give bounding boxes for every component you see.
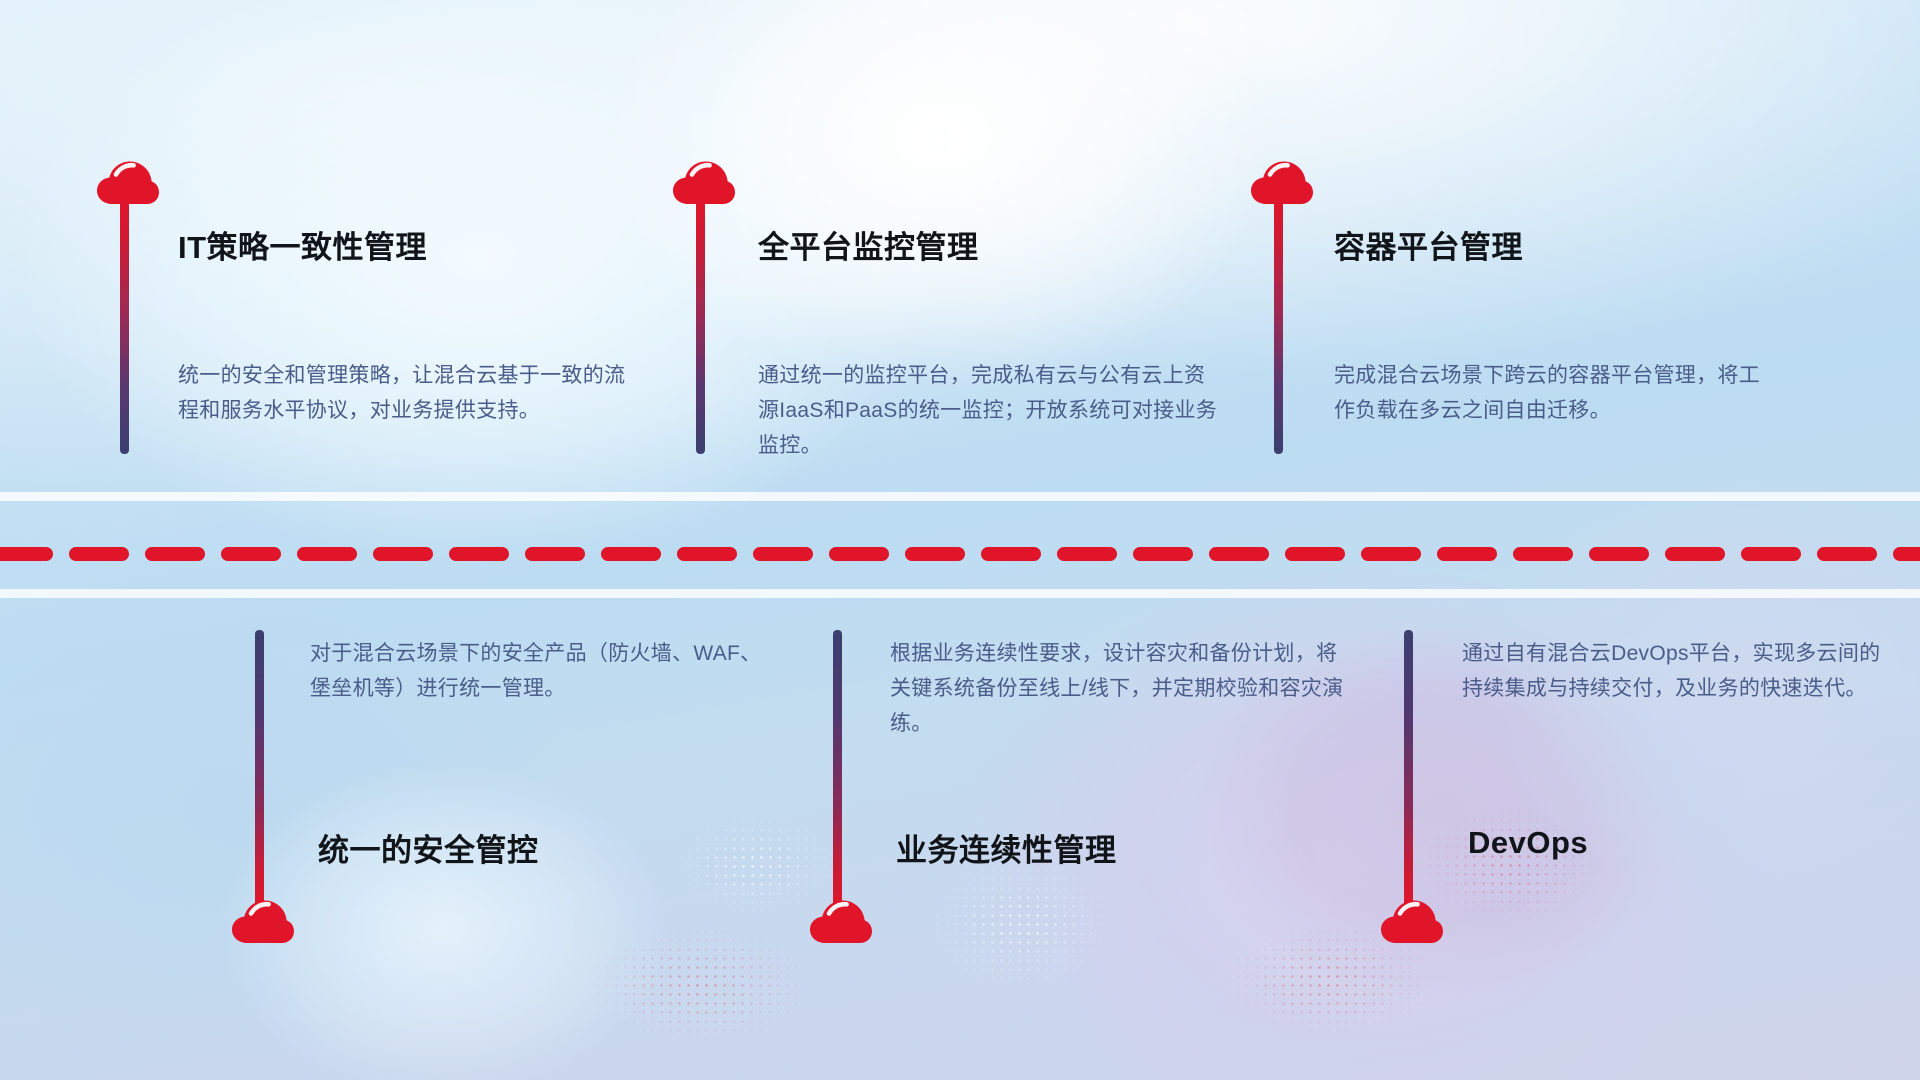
connector-stem	[255, 630, 264, 913]
capability-title: DevOps	[1468, 825, 1588, 861]
capability-title: 业务连续性管理	[896, 825, 1117, 870]
connector-stem	[1274, 196, 1283, 454]
cloud-icon	[809, 899, 873, 947]
red-dashed-separator	[0, 546, 1920, 562]
connector-stem	[1404, 630, 1413, 913]
divider-band-upper	[0, 492, 1920, 501]
connector-stem	[120, 196, 129, 454]
capability-title: 容器平台管理	[1334, 222, 1523, 267]
capability-title: 统一的安全管控	[318, 825, 539, 870]
divider-band-lower	[0, 589, 1920, 598]
cloud-icon	[231, 899, 295, 947]
capability-title: 全平台监控管理	[758, 222, 979, 267]
capability-description: 完成混合云场景下跨云的容器平台管理，将工作负载在多云之间自由迁移。	[1334, 358, 1764, 428]
infographic-canvas: IT策略一致性管理 统一的安全和管理策略，让混合云基于一致的流程和服务水平协议，…	[0, 0, 1920, 1080]
capability-description: 统一的安全和管理策略，让混合云基于一致的流程和服务水平协议，对业务提供支持。	[178, 358, 638, 428]
capability-description: 对于混合云场景下的安全产品（防火墙、WAF、堡垒机等）进行统一管理。	[310, 636, 770, 706]
capability-description: 根据业务连续性要求，设计容灾和备份计划，将关键系统备份至线上/线下，并定期校验和…	[890, 636, 1350, 741]
capability-title: IT策略一致性管理	[178, 222, 427, 267]
connector-stem	[833, 630, 842, 913]
capability-description: 通过统一的监控平台，完成私有云与公有云上资源IaaS和PaaS的统一监控；开放系…	[758, 358, 1218, 463]
capability-description: 通过自有混合云DevOps平台，实现多云间的持续集成与持续交付，及业务的快速迭代…	[1462, 636, 1892, 706]
cloud-icon	[1380, 899, 1444, 947]
connector-stem	[696, 196, 705, 454]
